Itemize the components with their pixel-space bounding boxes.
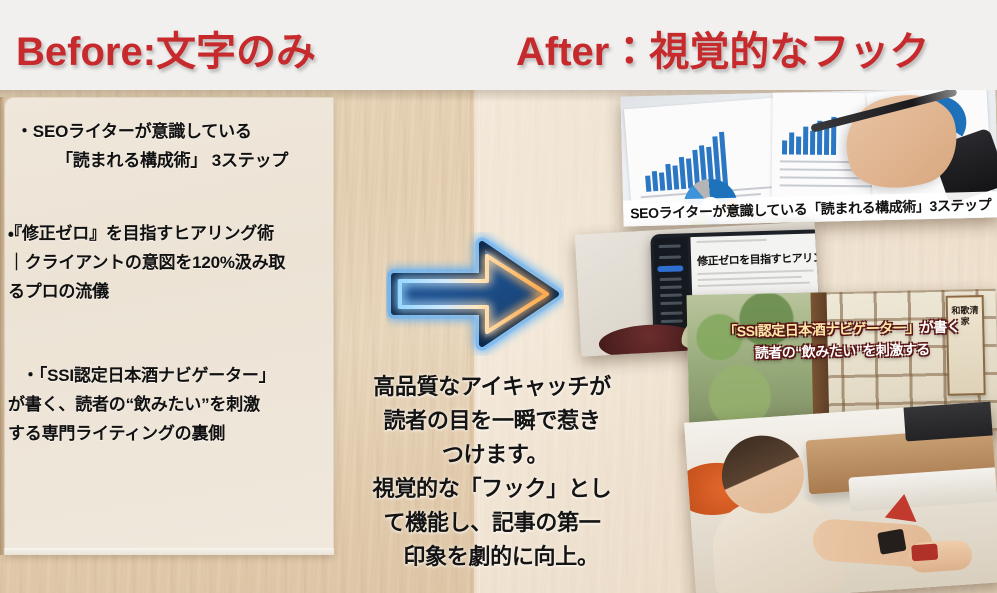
bullet-item: ・『修正ゼロ』を目指すヒアリング術 ｜クライアントの意図を120%汲み取 るプロ…	[8, 219, 334, 306]
before-text-card: ・SEOライターが意識している 「読まれる構成術」 3ステップ ・『修正ゼロ』を…	[4, 97, 334, 555]
thumbnail-caption: 「SSI認定日本酒ナビゲーター」が書く 読者の“飲みたい”を刺激する	[687, 315, 997, 365]
bullet-line: 「読まれる構成術」 3ステップ	[12, 146, 334, 175]
toy-block-red	[911, 544, 938, 562]
thumbnail-child-playing[interactable]	[684, 402, 997, 593]
bullet-line: ・SEOライターが意識している	[12, 117, 334, 146]
toy-block-triangle	[885, 492, 920, 522]
card-left-edge	[0, 97, 5, 555]
rule-line	[780, 184, 876, 187]
bullet-item: ・SEOライターが意識している 「読まれる構成術」 3ステップ	[12, 117, 334, 175]
bullet-line: るプロの流儀	[8, 277, 334, 306]
document-title: 修正ゼロを目指すヒアリング術	[697, 249, 817, 269]
before-text-body: ・SEOライターが意識している 「読まれる構成術」 3ステップ ・『修正ゼロ』を…	[4, 97, 334, 555]
caption-line: つけます。	[348, 438, 636, 472]
caption-line: 視覚的な「フック」とし	[348, 472, 636, 506]
caption-line: 印象を劇的に向上。	[348, 540, 636, 574]
heading-after: After：視覚的なフック	[516, 24, 929, 80]
caption-line: 高品質なアイキャッチが	[348, 370, 636, 404]
caption-rest: 読者の“飲みたい”	[755, 343, 863, 361]
table-top	[903, 402, 997, 442]
caption-highlight: 「SSI認定日本酒ナビゲーター」	[723, 319, 920, 339]
right-arrow-icon	[386, 232, 564, 356]
bullet-line: する専門ライティングの裏側	[8, 419, 334, 448]
bullet-line: ・「SSI認定日本酒ナビゲーター」	[8, 361, 334, 390]
caption-line: 読者の目を一瞬で惹き	[348, 404, 636, 438]
thumbnail-seo-structure[interactable]: SEOライターが意識している「読まれる構成術」3ステップ	[620, 87, 997, 226]
toy-block-dark	[877, 529, 906, 555]
bullet-line: ・『修正ゼロ』を目指すヒアリング術	[8, 219, 334, 248]
app-sidebar	[653, 237, 690, 338]
center-explanation-text: 高品質なアイキャッチが 読者の目を一瞬で惹き つけます。 視覚的な「フック」とし…	[348, 370, 636, 574]
caption-line: て機能し、記事の第一	[348, 506, 636, 540]
bullet-item: ・「SSI認定日本酒ナビゲーター」 が書く、読者の“飲みたい”を刺激 する専門ラ…	[8, 361, 334, 448]
caption-rest: が書く	[920, 319, 961, 336]
caption-rest: を刺激する	[862, 341, 930, 358]
bullet-line: ｜クライアントの意図を120%汲み取	[8, 248, 334, 277]
heading-before: Before:文字のみ	[16, 24, 316, 80]
bullet-line: が書く、読者の“飲みたい”を刺激	[8, 390, 334, 419]
slide-canvas: Before:文字のみ After：視覚的なフック ・SEOライターが意識してい…	[0, 0, 997, 593]
